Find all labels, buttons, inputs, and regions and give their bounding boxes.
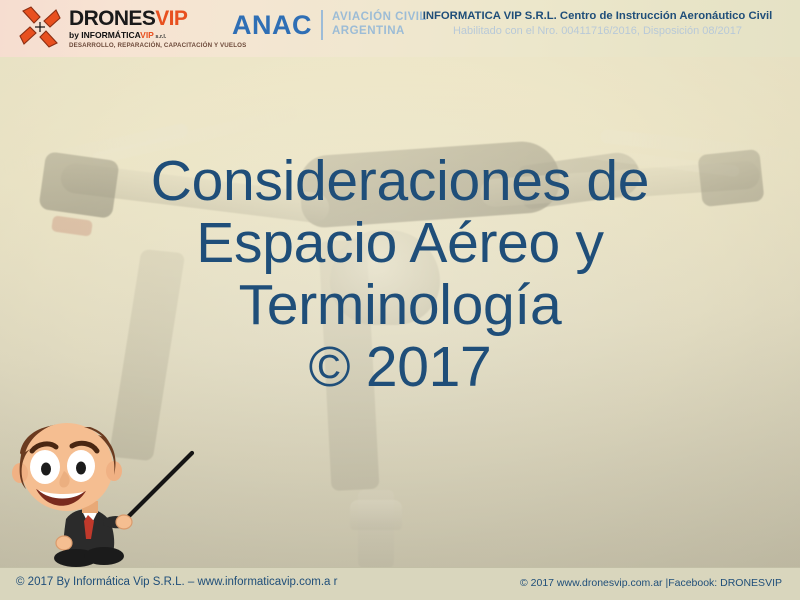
anac-acronym: ANAC <box>232 12 312 39</box>
dronesvip-wordmark: DRONESVIP <box>69 8 246 29</box>
tagline-informatica: INFORMÁTICA <box>81 30 140 40</box>
dronesvip-services-line: Desarrollo, Reparación, Capacitación y V… <box>69 42 246 49</box>
tagline-srl: s.r.l. <box>154 34 167 40</box>
slide-title: Consideraciones de Espacio Aéreo y Termi… <box>0 150 800 399</box>
footer-dronesvip-credit: © 2017 www.dronesvip.com.ar |Facebook: D… <box>520 577 782 589</box>
slide-footer-band: © 2017 By Informática Vip S.R.L. – www.i… <box>0 567 800 600</box>
anac-subtitle-line2: ARGENTINA <box>332 25 427 39</box>
institution-header-text: INFORMATICA VIP S.R.L. Centro de Instruc… <box>415 9 780 39</box>
tagline-vip: VIP <box>140 30 154 40</box>
dronesvip-propeller-mark-icon <box>18 5 62 49</box>
title-line-3: Terminología <box>0 274 800 336</box>
dronesvip-wordmark-dark: DRONES <box>69 7 155 30</box>
anac-subtitle-line1: AVIACIÓN CIVIL <box>332 11 427 25</box>
dronesvip-logo[interactable]: DRONESVIP by INFORMÁTICAVIP s.r.l. Desar… <box>18 5 246 49</box>
anac-subtitle: AVIACIÓN CIVIL ARGENTINA <box>332 11 427 38</box>
title-line-1: Consideraciones de <box>0 150 800 212</box>
instructor-mascot-icon <box>4 415 204 570</box>
institution-license: Habilitado con el Nro. 00411716/2016, Di… <box>415 24 780 39</box>
slide-header-band: DRONESVIP by INFORMÁTICAVIP s.r.l. Desar… <box>0 0 800 57</box>
tagline-by: by <box>69 30 81 40</box>
anac-logo[interactable]: ANAC AVIACIÓN CIVIL ARGENTINA <box>232 10 427 40</box>
anac-divider <box>321 10 323 40</box>
title-copyright-line: © 2017 <box>0 336 800 398</box>
dronesvip-wordmark-accent: VIP <box>155 7 187 30</box>
footer-informaticavip-credit: © 2017 By Informática Vip S.R.L. – www.i… <box>16 576 337 588</box>
presentation-slide: DRONESVIP by INFORMÁTICAVIP s.r.l. Desar… <box>0 0 800 600</box>
institution-name: INFORMATICA VIP S.R.L. Centro de Instruc… <box>415 9 780 24</box>
title-line-2: Espacio Aéreo y <box>0 212 800 274</box>
dronesvip-tagline: by INFORMÁTICAVIP s.r.l. <box>69 30 246 41</box>
